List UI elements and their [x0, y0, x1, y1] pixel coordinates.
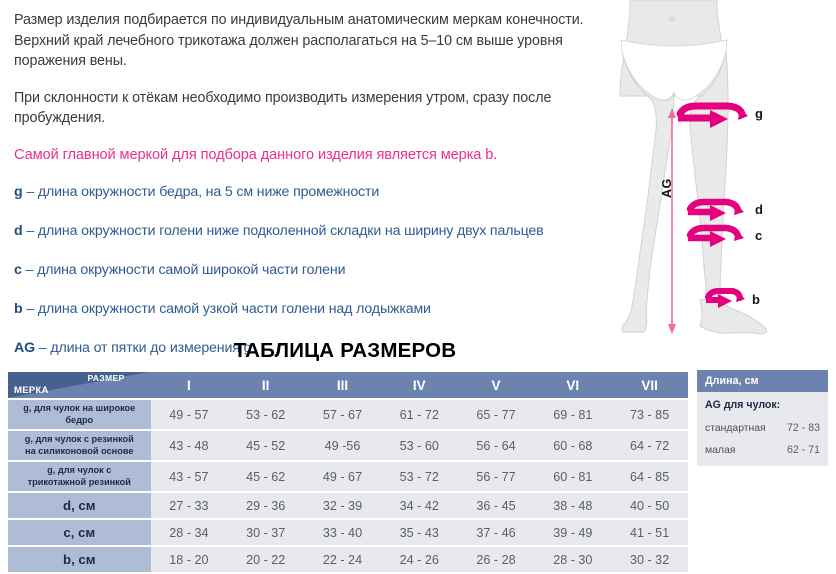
row-label-line-1: g, для чулок с [47, 465, 111, 475]
cell-r4-c1: 30 - 37 [227, 520, 304, 545]
cell-r3-c3: 34 - 42 [381, 493, 458, 518]
cell-r4-c4: 37 - 46 [458, 520, 535, 545]
cell-r2-c3: 53 - 72 [381, 462, 458, 491]
cell-r0-c4: 65 - 77 [458, 400, 535, 429]
row-label-line-1: g, для чулок на широкое [23, 403, 135, 413]
row-label-line-1: g, для чулок с резинкой [25, 434, 134, 444]
size-table: РАЗМЕР МЕРКА I II III IV V VI VII g, для… [8, 370, 688, 574]
legend-item-g: g – длина окружности бедра, на 5 см ниже… [14, 183, 600, 202]
table-row: g, для чулок на широкое бедро 49 - 57 53… [8, 400, 688, 429]
cell-r1-c4: 56 - 64 [458, 431, 535, 460]
legend-dash-d: – [26, 223, 34, 239]
length-panel-header: Длина, см [697, 370, 828, 392]
length-row-standard-value: 72 - 83 [787, 422, 820, 434]
cell-r2-c0: 43 - 57 [151, 462, 228, 491]
cell-r1-c6: 64 - 72 [611, 431, 688, 460]
legend-text-g: длина окружности бедра, на 5 см ниже про… [38, 184, 379, 200]
cell-r4-c2: 33 - 40 [304, 520, 381, 545]
cell-r1-c5: 60 - 68 [534, 431, 611, 460]
legend-key-g: g [14, 184, 23, 200]
row-label-line-2: бедро [65, 415, 93, 425]
measure-arrow-g [678, 106, 748, 128]
measurement-legend-list: g – длина окружности бедра, на 5 см ниже… [14, 183, 600, 358]
table-title: ТАБЛИЦА РАЗМЕРОВ [0, 339, 690, 363]
cell-r0-c5: 69 - 81 [534, 400, 611, 429]
illustration-label-c: c [755, 228, 762, 243]
intro-paragraph-1: Размер изделия подбирается по индивидуал… [14, 10, 600, 72]
row-label-g-wide-thigh: g, для чулок на широкое бедро [8, 400, 151, 429]
cell-r5-c0: 18 - 20 [151, 547, 228, 572]
size-table-header-row: РАЗМЕР МЕРКА I II III IV V VI VII [8, 372, 688, 398]
corner-label-size: РАЗМЕР [88, 373, 125, 383]
size-table-wrapper: РАЗМЕР МЕРКА I II III IV V VI VII g, для… [8, 370, 688, 574]
row-label-g-silicone-band: g, для чулок с резинкой на силиконовой о… [8, 431, 151, 460]
illustration-label-ag: AG [660, 178, 674, 198]
cell-r2-c6: 64 - 85 [611, 462, 688, 491]
cell-r3-c5: 38 - 48 [534, 493, 611, 518]
legend-dash-c: – [26, 262, 34, 278]
size-table-head: РАЗМЕР МЕРКА I II III IV V VI VII [8, 372, 688, 398]
cell-r0-c0: 49 - 57 [151, 400, 228, 429]
legs-figure-svg [600, 0, 836, 340]
legend-key-c: c [14, 262, 22, 278]
illustration-label-d: d [755, 202, 763, 217]
length-row-standard-name: стандартная [705, 423, 766, 434]
length-row-standard: стандартная 72 - 83 [705, 422, 820, 434]
cell-r1-c1: 45 - 52 [227, 431, 304, 460]
cell-r5-c1: 20 - 22 [227, 547, 304, 572]
column-header-3: III [304, 372, 381, 398]
cell-r1-c0: 43 - 48 [151, 431, 228, 460]
table-row: g, для чулок с резинкой на силиконовой о… [8, 431, 688, 460]
legend-text-c: длина окружности самой широкой части гол… [37, 262, 345, 278]
cell-r0-c2: 57 - 67 [304, 400, 381, 429]
cell-r5-c5: 28 - 30 [534, 547, 611, 572]
legend-item-d: d – длина окружности голени ниже подколе… [14, 222, 600, 241]
legend-dash-b: – [26, 301, 34, 317]
legend-dash-g: – [26, 184, 34, 200]
cell-r3-c4: 36 - 45 [458, 493, 535, 518]
row-label-g-knit-band: g, для чулок с трикотажной резинкой [8, 462, 151, 491]
cell-r4-c6: 41 - 51 [611, 520, 688, 545]
legend-item-b: b – длина окружности самой узкой части г… [14, 300, 600, 319]
cell-r2-c2: 49 - 67 [304, 462, 381, 491]
illustration-label-g: g [755, 106, 763, 121]
leg-measurement-illustration: g d c b AG [600, 0, 836, 340]
legend-text-b: длина окружности самой узкой части голен… [38, 301, 431, 317]
cell-r0-c1: 53 - 62 [227, 400, 304, 429]
column-header-7: VII [611, 372, 688, 398]
header-corner-cell: РАЗМЕР МЕРКА [8, 372, 151, 398]
cell-r1-c3: 53 - 60 [381, 431, 458, 460]
cell-r3-c0: 27 - 33 [151, 493, 228, 518]
length-panel-body: AG для чулок: стандартная 72 - 83 малая … [697, 392, 828, 466]
intro-paragraph-2: При склонности к отёкам необходимо произ… [14, 88, 600, 129]
length-row-small: малая 62 - 71 [705, 444, 820, 456]
table-row: c, см 28 - 34 30 - 37 33 - 40 35 - 43 37… [8, 520, 688, 545]
size-table-body: g, для чулок на широкое бедро 49 - 57 53… [8, 400, 688, 572]
cell-r4-c0: 28 - 34 [151, 520, 228, 545]
row-label-line-2: трикотажной резинкой [28, 477, 131, 487]
size-chart-page: Размер изделия подбирается по индивидуал… [0, 0, 836, 571]
cell-r5-c6: 30 - 32 [611, 547, 688, 572]
column-header-5: V [458, 372, 535, 398]
column-header-2: II [227, 372, 304, 398]
cell-r4-c3: 35 - 43 [381, 520, 458, 545]
table-row: d, см 27 - 33 29 - 36 32 - 39 34 - 42 36… [8, 493, 688, 518]
legend-key-b: b [14, 301, 23, 317]
cell-r0-c6: 73 - 85 [611, 400, 688, 429]
body-silhouette [620, 0, 766, 334]
column-header-6: VI [534, 372, 611, 398]
row-label-line-2: на силиконовой основе [25, 446, 133, 456]
length-panel: Длина, см AG для чулок: стандартная 72 -… [697, 370, 828, 466]
cell-r3-c6: 40 - 50 [611, 493, 688, 518]
legend-text-d: длина окружности голени ниже подколенной… [38, 223, 544, 239]
legend-item-c: c – длина окружности самой широкой части… [14, 261, 600, 280]
length-panel-title: AG для чулок: [705, 399, 820, 411]
corner-label-measure: МЕРКА [14, 385, 49, 396]
length-row-small-value: 62 - 71 [787, 444, 820, 456]
cell-r1-c2: 49 -56 [304, 431, 381, 460]
table-row: b, см 18 - 20 20 - 22 22 - 24 24 - 26 26… [8, 547, 688, 572]
key-measurement-highlight: Самой главной меркой для подбора данного… [14, 145, 600, 165]
row-label-b: b, см [8, 547, 151, 572]
cell-r5-c2: 22 - 24 [304, 547, 381, 572]
cell-r5-c4: 26 - 28 [458, 547, 535, 572]
row-label-c: c, см [8, 520, 151, 545]
cell-r2-c1: 45 - 62 [227, 462, 304, 491]
column-header-1: I [151, 372, 228, 398]
instructions-column: Размер изделия подбирается по индивидуал… [0, 0, 614, 338]
legend-key-d: d [14, 223, 23, 239]
cell-r0-c3: 61 - 72 [381, 400, 458, 429]
row-label-d: d, см [8, 493, 151, 518]
table-row: g, для чулок с трикотажной резинкой 43 -… [8, 462, 688, 491]
cell-r5-c3: 24 - 26 [381, 547, 458, 572]
cell-r3-c2: 32 - 39 [304, 493, 381, 518]
cell-r3-c1: 29 - 36 [227, 493, 304, 518]
column-header-4: IV [381, 372, 458, 398]
length-row-small-name: малая [705, 445, 735, 456]
cell-r2-c5: 60 - 81 [534, 462, 611, 491]
cell-r2-c4: 56 - 77 [458, 462, 535, 491]
illustration-label-b: b [752, 292, 760, 307]
cell-r4-c5: 39 - 49 [534, 520, 611, 545]
